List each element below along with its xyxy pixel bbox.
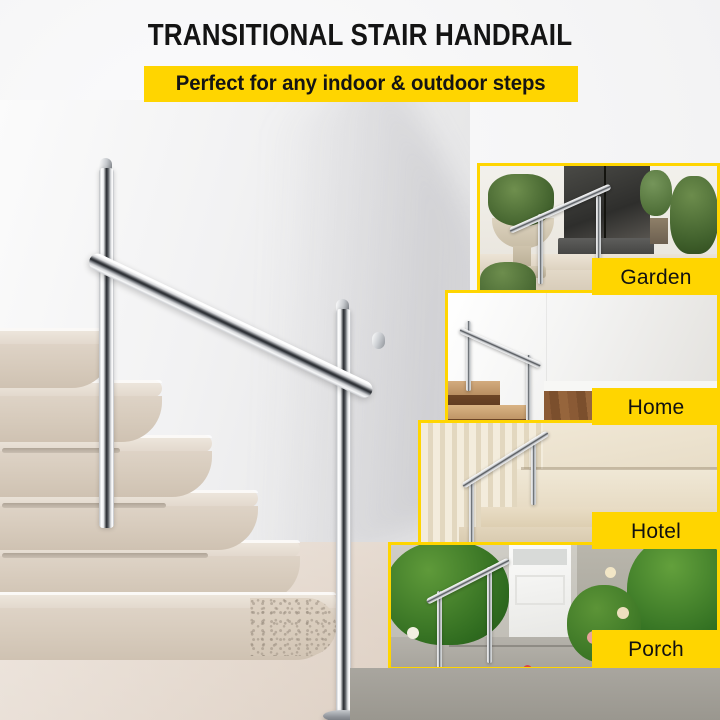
bottom-concrete-strip — [350, 668, 720, 720]
stair-step — [0, 490, 258, 550]
subtitle-banner: Perfect for any indoor & outdoor steps — [144, 66, 578, 102]
handrail-post-left — [99, 168, 114, 528]
stair-landing-step — [0, 592, 336, 660]
panel-handrail-post — [469, 479, 474, 551]
scene-panel-garden[interactable]: Garden — [477, 163, 720, 298]
panel-label-garden: Garden — [592, 258, 720, 298]
shrub — [640, 170, 672, 216]
panel-handrail-post — [531, 443, 536, 505]
panel-handrail-post — [487, 567, 492, 663]
stair-step — [0, 380, 162, 442]
page-title: TRANSITIONAL STAIR HANDRAIL — [58, 19, 663, 50]
scene-panel-home[interactable]: Home — [445, 290, 720, 428]
subtitle-text: Perfect for any indoor & outdoor steps — [176, 72, 546, 96]
scene-panel-porch[interactable]: Porch — [388, 542, 720, 670]
handrail-end-cap — [372, 332, 385, 349]
stair-step — [0, 328, 112, 388]
panel-label-home: Home — [592, 388, 720, 428]
panel-label-porch: Porch — [592, 630, 720, 670]
panel-handrail-post — [596, 196, 601, 258]
scene-panel-hotel[interactable]: Hotel — [418, 420, 720, 552]
panel-handrail-post — [526, 355, 531, 428]
panel-label-hotel: Hotel — [592, 512, 720, 552]
product-marketing-image: TRANSITIONAL STAIR HANDRAIL Perfect for … — [0, 0, 720, 720]
stone-grit-texture — [250, 598, 336, 656]
panel-handrail-post — [437, 591, 442, 670]
panel-handrail-post — [538, 214, 543, 284]
shrub — [670, 176, 718, 254]
